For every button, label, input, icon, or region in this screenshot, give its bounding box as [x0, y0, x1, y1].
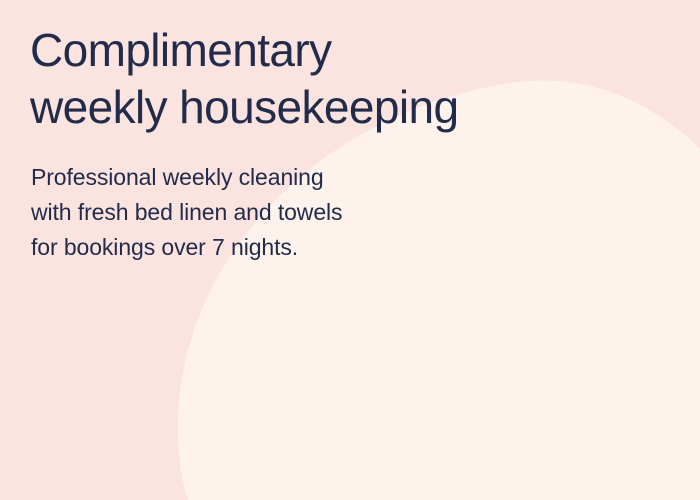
subheadline-line-1: Professional weekly cleaning [31, 160, 461, 195]
headline-line-1: Complimentary [30, 24, 332, 76]
subheadline-line-2: with fresh bed linen and towels [31, 195, 461, 230]
subheadline: Professional weekly cleaning with fresh … [31, 160, 461, 265]
headline-line-2: weekly housekeeping [30, 79, 650, 136]
promo-banner: Complimentary weekly housekeeping Profes… [0, 0, 700, 500]
headline: Complimentary weekly housekeeping [30, 22, 650, 136]
subheadline-line-3: for bookings over 7 nights. [31, 230, 461, 265]
